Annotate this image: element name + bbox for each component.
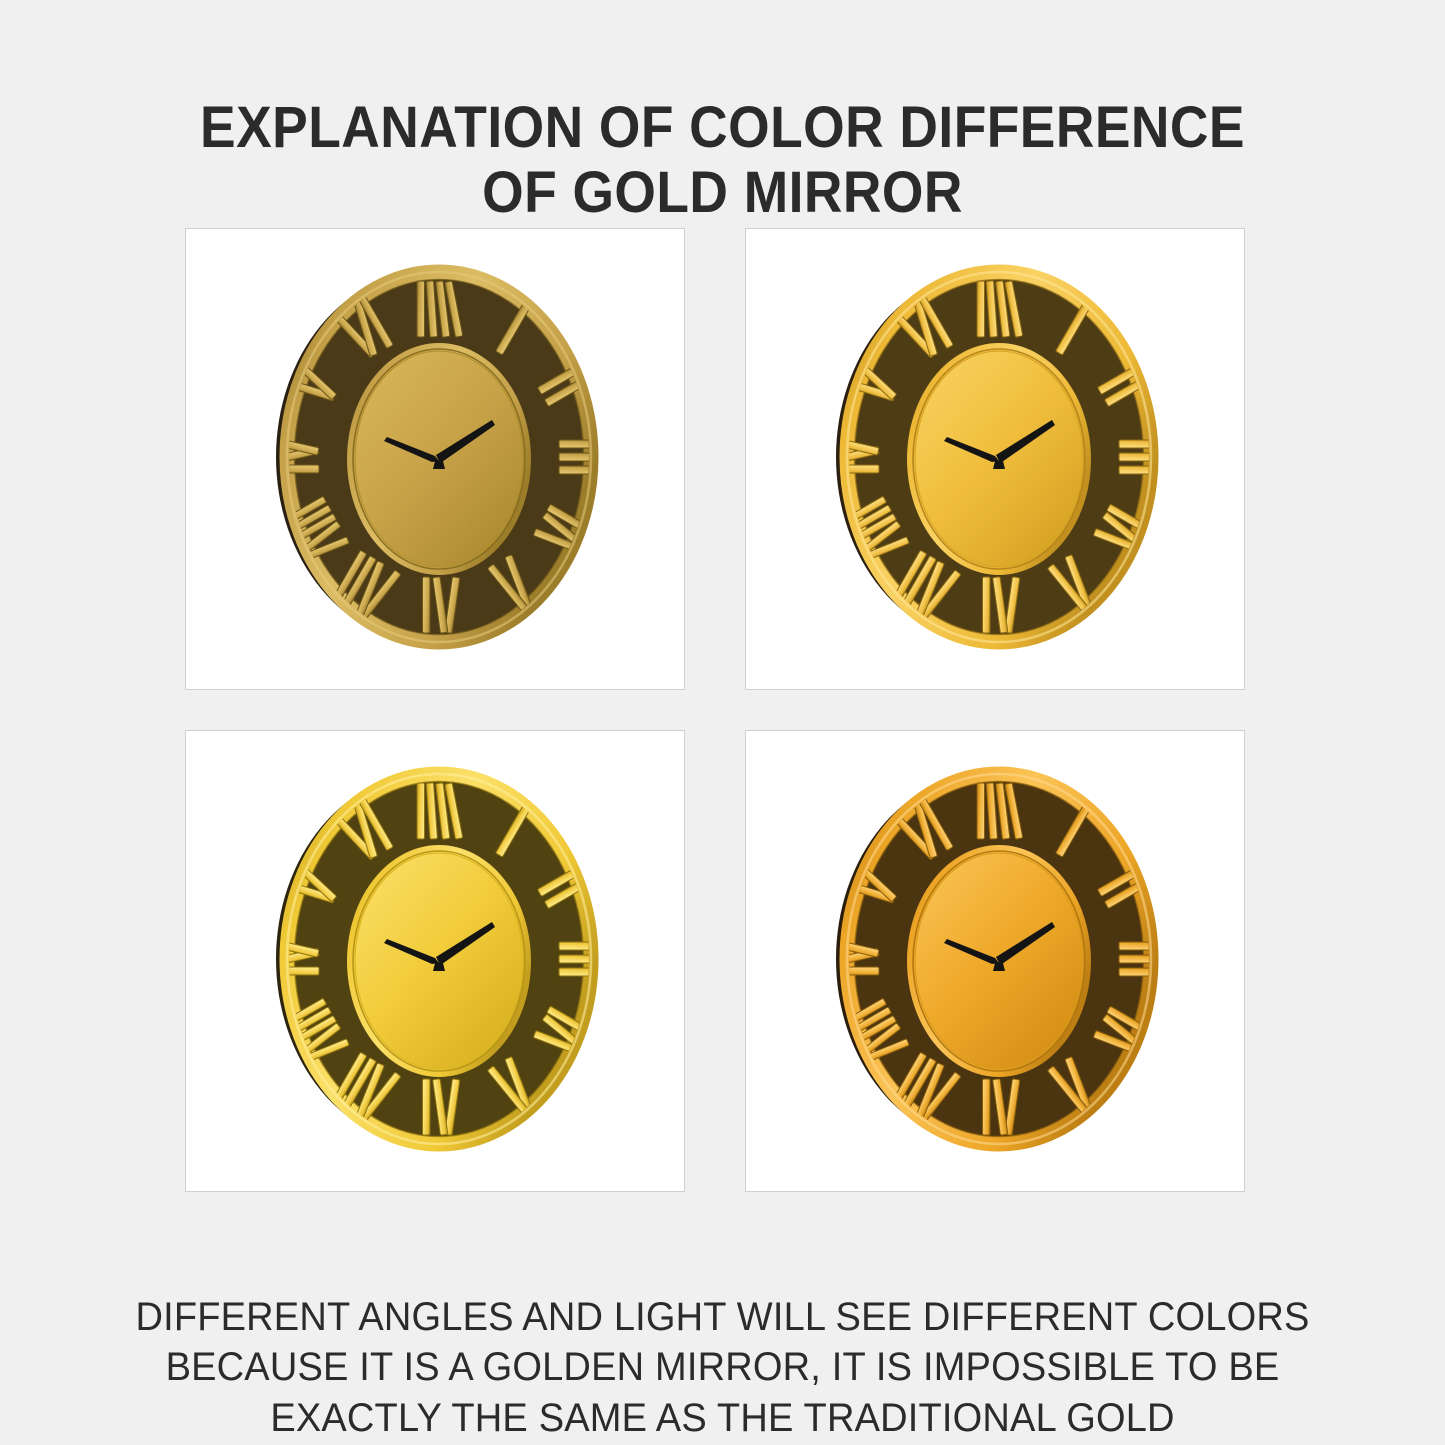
infographic-page: EXPLANATION OF COLOR DIFFERENCE OF GOLD … bbox=[0, 0, 1445, 1445]
page-title: EXPLANATION OF COLOR DIFFERENCE OF GOLD … bbox=[58, 95, 1387, 226]
explanatory-caption: DIFFERENT ANGLES AND LIGHT WILL SEE DIFF… bbox=[36, 1292, 1409, 1443]
clock-image-variant-3 bbox=[226, 749, 646, 1169]
clock-panel-bottom-right[interactable] bbox=[745, 730, 1245, 1192]
clock-image-variant-1 bbox=[226, 247, 646, 667]
clock-panel-top-left[interactable] bbox=[185, 228, 685, 690]
clock-gallery-grid bbox=[185, 228, 1250, 1195]
clock-panel-top-right[interactable] bbox=[745, 228, 1245, 690]
clock-image-variant-4 bbox=[786, 749, 1206, 1169]
clock-panel-bottom-left[interactable] bbox=[185, 730, 685, 1192]
clock-image-variant-2 bbox=[786, 247, 1206, 667]
